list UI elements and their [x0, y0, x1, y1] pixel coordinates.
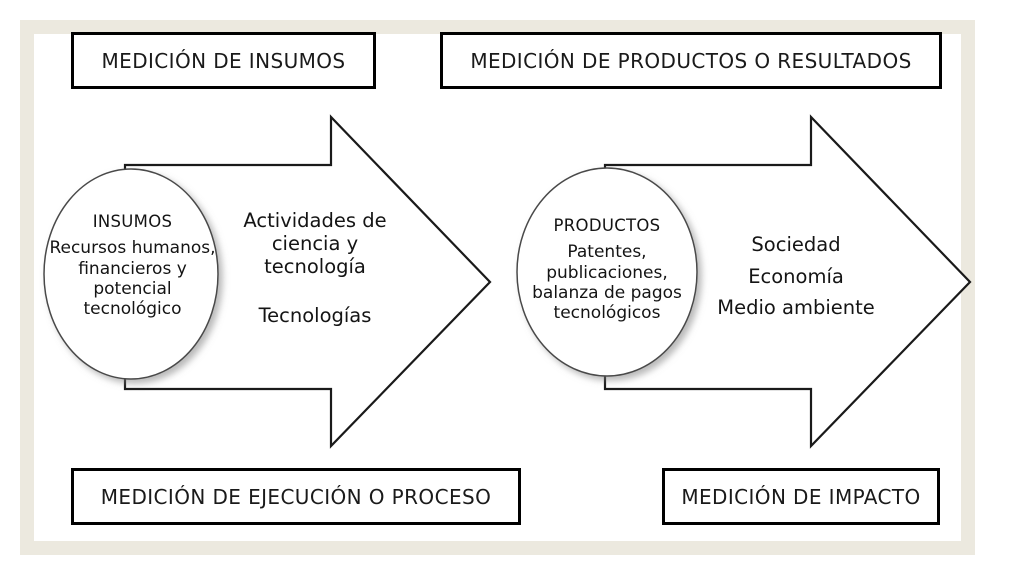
arrow-impacto-text: Sociedad Economía Medio ambiente: [690, 229, 902, 324]
label-box-medicion-ejecucion[interactable]: MEDICIÓN DE EJECUCIÓN O PROCESO: [71, 468, 521, 525]
ellipse-productos-text: PRODUCTOS Patentes, publicaciones, balan…: [518, 216, 696, 323]
ellipse-productos-title: PRODUCTOS: [518, 216, 696, 235]
arrow-proceso-line1: Actividades de ciencia y tecnología: [224, 209, 406, 278]
ellipse-productos-body: Patentes, publicaciones, balanza de pago…: [518, 242, 696, 322]
label-box-medicion-impacto[interactable]: MEDICIÓN DE IMPACTO: [662, 468, 940, 525]
arrow-proceso-text: Actividades de ciencia y tecnología Tecn…: [224, 209, 406, 327]
spacer: [224, 278, 406, 304]
ellipse-insumos-title: INSUMOS: [45, 212, 220, 231]
arrow-impacto-line2: Economía: [690, 261, 902, 293]
arrow-impacto-line1: Sociedad: [690, 229, 902, 261]
label-box-medicion-productos[interactable]: MEDICIÓN DE PRODUCTOS O RESULTADOS: [440, 32, 942, 89]
diagram-canvas: MEDICIÓN DE INSUMOS MEDICIÓN DE PRODUCTO…: [0, 0, 1015, 568]
label-box-medicion-insumos[interactable]: MEDICIÓN DE INSUMOS: [71, 32, 376, 89]
label-box-text: MEDICIÓN DE IMPACTO: [681, 485, 920, 509]
arrow-proceso-line2: Tecnologías: [224, 304, 406, 327]
ellipse-insumos-body: Recursos humanos, financieros y potencia…: [45, 238, 220, 318]
ellipse-insumos-text: INSUMOS Recursos humanos, financieros y …: [45, 212, 220, 319]
label-box-text: MEDICIÓN DE PRODUCTOS O RESULTADOS: [470, 49, 911, 73]
label-box-text: MEDICIÓN DE INSUMOS: [102, 49, 346, 73]
label-box-text: MEDICIÓN DE EJECUCIÓN O PROCESO: [101, 485, 491, 509]
arrow-impacto-line3: Medio ambiente: [690, 292, 902, 324]
